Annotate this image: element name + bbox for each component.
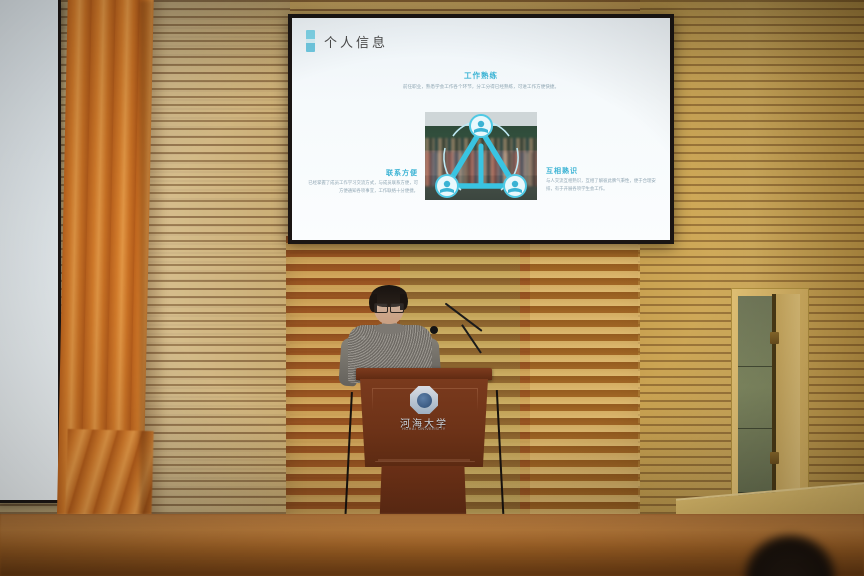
microphone-head-icon xyxy=(430,326,438,334)
slide-group-photo xyxy=(425,112,537,200)
door-hinge-upper xyxy=(770,332,779,344)
podium-seam xyxy=(378,459,470,461)
slide-top-item-label: 工作熟练 xyxy=(381,70,581,81)
slide-header: 个人信息 xyxy=(306,30,388,52)
slide-left-item-label: 联系方便 xyxy=(306,168,418,178)
triangle-diagram xyxy=(425,112,537,200)
slide-left-item-body: 已经掌握了成员工作学习交流方式，与成员联系方便，可方便通知各项事宜，工作联络十分… xyxy=(306,180,418,195)
curtain-shadow xyxy=(140,0,166,560)
bottom-left-vertex-icon xyxy=(436,175,458,197)
stage-floor-reflection xyxy=(0,514,864,576)
slide-left-item: 联系方便 已经掌握了成员工作学习交流方式，与成员联系方便，可方便通知各项事宜，工… xyxy=(306,168,418,195)
auditorium-scene: 个人信息 工作熟练 前任职业，熟悉学会工作各个环节，分工分得已经熟练，可进工作方… xyxy=(0,0,864,576)
slide-right-item-body: 与人交流互相熟识，互相了解彼此脾气秉性，便于合理安排，有于开展各项学生会工作。 xyxy=(546,178,658,193)
speaker-collar xyxy=(374,323,406,334)
main-projection-screen[interactable]: 个人信息 工作熟练 前任职业，熟悉学会工作各个环节，分工分得已经熟练，可进工作方… xyxy=(288,14,674,244)
slide-top-item-body: 前任职业，熟悉学会工作各个环节，分工分得已经熟练，可进工作方便快捷。 xyxy=(381,84,581,92)
podium-top-surface xyxy=(356,368,492,380)
bookmark-icon xyxy=(306,30,315,52)
university-emblem xyxy=(410,386,438,414)
presentation-slide: 个人信息 工作熟练 前任职业，熟悉学会工作各个环节，分工分得已经熟练，可进工作方… xyxy=(292,18,670,240)
slide-right-item: 互相熟识 与人交流互相熟识，互相了解彼此脾气秉性，便于合理安排，有于开展各项学生… xyxy=(546,166,658,193)
slide-title: 个人信息 xyxy=(324,32,388,51)
top-vertex-icon xyxy=(470,115,492,137)
bottom-right-vertex-icon xyxy=(504,175,526,197)
slide-right-item-label: 互相熟识 xyxy=(546,166,658,176)
secondary-projection-screen xyxy=(0,0,61,503)
podium-university-subtitle: HOHAI UNIVERSITY xyxy=(388,427,460,431)
slide-top-item: 工作熟练 前任职业，熟悉学会工作各个环节，分工分得已经熟练，可进工作方便快捷。 xyxy=(381,70,581,92)
door-hinge-lower xyxy=(770,452,779,464)
glasses-icon xyxy=(374,303,404,311)
